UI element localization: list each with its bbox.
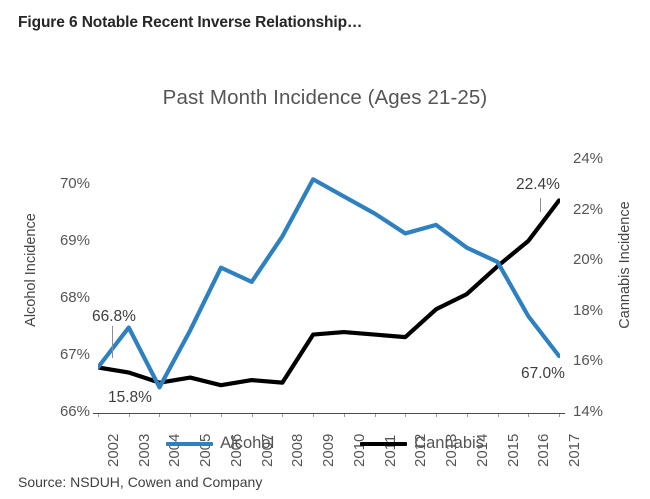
cannabis-end-leader-line [540, 198, 541, 212]
legend-item-cannabis[interactable]: Cannabis [360, 434, 484, 453]
chart-legend: AlcoholCannabis [0, 434, 650, 453]
cannabis-end-label: 22.4% [516, 176, 560, 194]
chart-container: Past Month Incidence (Ages 21-25) Alcoho… [0, 52, 650, 452]
y-axis-left-tick: 66% [42, 403, 90, 420]
y-axis-right-tick: 22% [573, 201, 621, 218]
legend-swatch-icon [166, 442, 213, 446]
legend-swatch-icon [360, 442, 407, 446]
legend-label: Cannabis [414, 434, 484, 453]
series-line-alcohol [98, 179, 559, 387]
y-axis-left-tick: 70% [42, 175, 90, 192]
alcohol-end-label: 67.0% [521, 365, 565, 383]
legend-label: Alcohol [220, 434, 274, 453]
chart-title: Past Month Incidence (Ages 21-25) [0, 86, 650, 110]
y-axis-left-tick: 67% [42, 346, 90, 363]
y-axis-right-tick: 18% [573, 302, 621, 319]
plot-area [98, 108, 560, 413]
y-axis-right-tick: 20% [573, 251, 621, 268]
y-axis-left-title: Alcohol Incidence [23, 190, 39, 350]
series-line-cannabis [98, 200, 559, 385]
y-axis-right-tick: 14% [573, 403, 621, 420]
figure-caption: Figure 6 Notable Recent Inverse Relation… [18, 14, 362, 32]
y-axis-right-tick: 16% [573, 352, 621, 369]
y-axis-left-tick: 68% [42, 289, 90, 306]
source-note: Source: NSDUH, Cowen and Company [18, 474, 262, 490]
y-axis-left-tick: 69% [42, 232, 90, 249]
x-axis-line [93, 413, 565, 414]
alcohol-start-label: 66.8% [92, 308, 136, 326]
legend-item-alcohol[interactable]: Alcohol [166, 434, 274, 453]
alcohol-start-leader-line [112, 326, 113, 358]
y-axis-right-tick: 24% [573, 150, 621, 167]
cannabis-start-label: 15.8% [108, 389, 152, 407]
